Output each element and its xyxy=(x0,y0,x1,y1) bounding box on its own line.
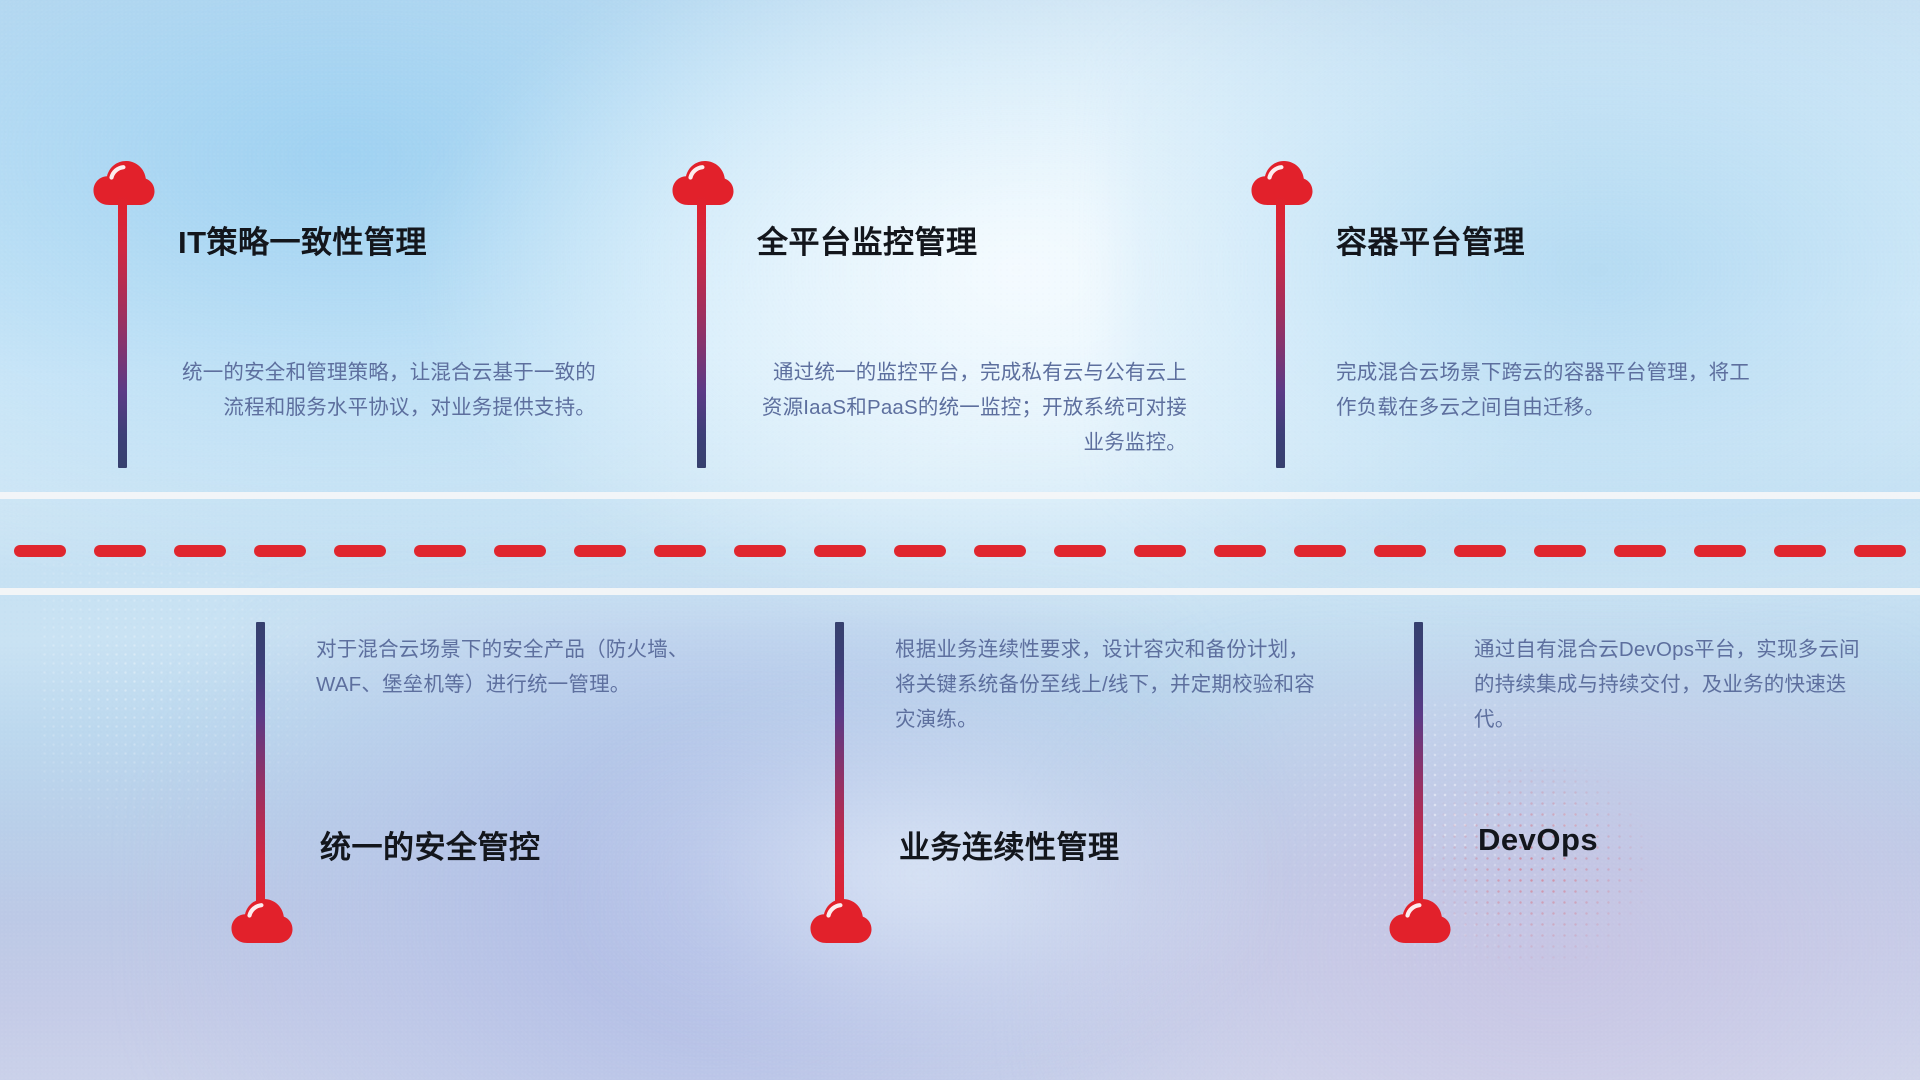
feature-description: 根据业务连续性要求，设计容灾和备份计划，将关键系统备份至线上/线下，并定期校验和… xyxy=(895,632,1315,737)
cloud-icon xyxy=(1389,898,1451,944)
dash-segment xyxy=(1774,545,1826,557)
feature-title: 业务连续性管理 xyxy=(899,822,1120,867)
feature-description: 对于混合云场景下的安全产品（防火墙、WAF、堡垒机等）进行统一管理。 xyxy=(316,632,736,702)
feature-description: 通过统一的监控平台，完成私有云与公有云上资源IaaS和PaaS的统一监控；开放系… xyxy=(755,355,1187,460)
feature-title: DevOps xyxy=(1478,822,1598,858)
dash-segment xyxy=(174,545,226,557)
connector-stem xyxy=(697,196,706,468)
connector-stem xyxy=(835,622,844,914)
dash-segment xyxy=(414,545,466,557)
dash-segment xyxy=(814,545,866,557)
dot-pattern-red xyxy=(1405,765,1645,985)
feature-title: IT策略一致性管理 xyxy=(178,217,427,262)
divider-line-top xyxy=(0,492,1920,499)
dash-segment xyxy=(1374,545,1426,557)
dash-segment xyxy=(494,545,546,557)
infographic-canvas: IT策略一致性管理 统一的安全和管理策略，让混合云基于一致的流程和服务水平协议，… xyxy=(0,0,1920,1080)
divider-line-bottom xyxy=(0,588,1920,595)
dash-segment xyxy=(894,545,946,557)
feature-title: 全平台监控管理 xyxy=(757,217,978,262)
dash-segment xyxy=(94,545,146,557)
dash-segment xyxy=(14,545,66,557)
dash-segment xyxy=(734,545,786,557)
feature-title: 统一的安全管控 xyxy=(320,822,541,867)
dot-pattern-left xyxy=(40,560,360,860)
dash-segment xyxy=(1854,545,1906,557)
feature-description: 通过自有混合云DevOps平台，实现多云间的持续集成与持续交付，及业务的快速迭代… xyxy=(1474,632,1874,737)
dash-segment xyxy=(974,545,1026,557)
feature-description: 统一的安全和管理策略，让混合云基于一致的流程和服务水平协议，对业务提供支持。 xyxy=(176,355,596,425)
connector-stem xyxy=(256,622,265,914)
connector-stem xyxy=(1414,622,1423,914)
dash-segment xyxy=(1694,545,1746,557)
connector-stem xyxy=(1276,196,1285,468)
feature-description: 完成混合云场景下跨云的容器平台管理，将工作负载在多云之间自由迁移。 xyxy=(1336,355,1756,425)
feature-title: 容器平台管理 xyxy=(1336,217,1525,262)
cloud-icon xyxy=(231,898,293,944)
dash-segment xyxy=(1614,545,1666,557)
dash-segment xyxy=(1214,545,1266,557)
dash-segment xyxy=(1534,545,1586,557)
cloud-icon xyxy=(810,898,872,944)
dash-segment xyxy=(334,545,386,557)
dash-segment xyxy=(654,545,706,557)
dash-segment xyxy=(1054,545,1106,557)
dash-segment xyxy=(574,545,626,557)
dash-segment xyxy=(1134,545,1186,557)
dash-segment xyxy=(254,545,306,557)
dash-segment xyxy=(1454,545,1506,557)
dash-segment xyxy=(1294,545,1346,557)
connector-stem xyxy=(118,196,127,468)
dashed-separator xyxy=(0,545,1920,557)
